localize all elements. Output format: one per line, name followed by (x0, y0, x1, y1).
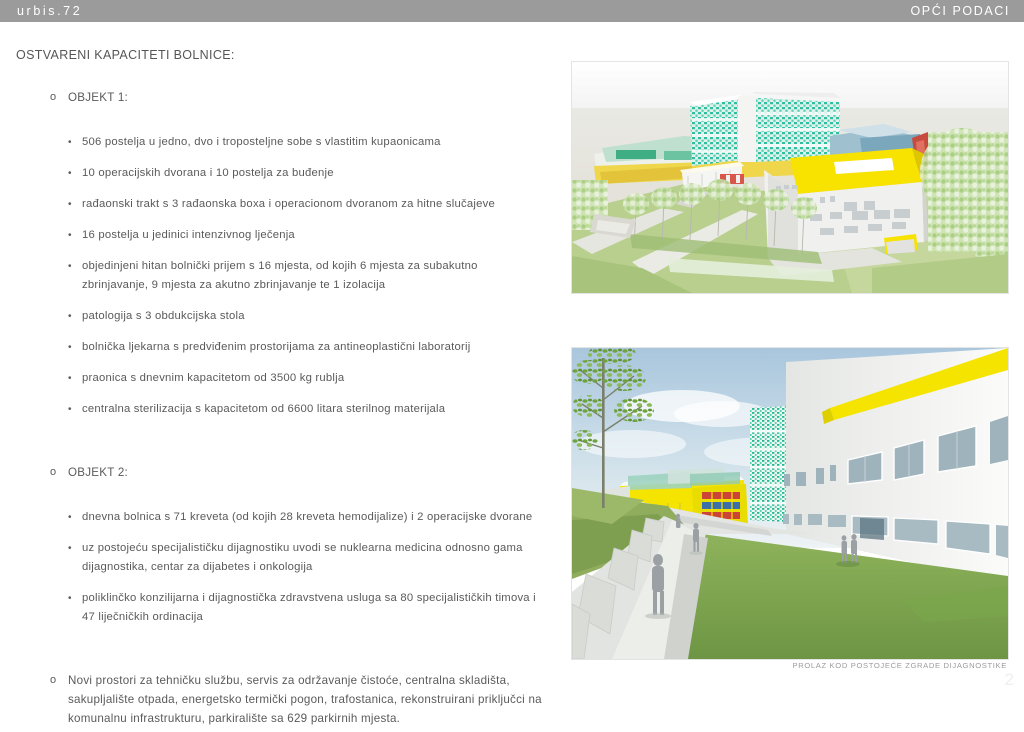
aerial-render-graphic (572, 62, 1008, 293)
bullet-hollow-icon: o (50, 463, 56, 482)
list-item-label: centralna sterilizacija s kapacitetom od… (82, 403, 445, 415)
page-number: 2 (1005, 670, 1014, 690)
image-caption: PROLAZ KOD POSTOJEĆE ZGRADE DIJAGNOSTIKE (571, 661, 1007, 670)
spacer (0, 111, 545, 133)
closing-paragraph-label: Novi prostori za tehničku službu, servis… (68, 674, 542, 725)
list-item: • objedinjeni hitan bolnički prijem s 16… (0, 257, 545, 295)
bullet-dot-icon: • (68, 589, 72, 608)
list-item: • poliklinčko konzilijarna i dijagnostič… (0, 589, 545, 627)
bullet-dot-icon: • (68, 195, 72, 214)
ground-level-hospital-render (571, 347, 1009, 660)
list-item: • praonica s dnevnim kapacitetom od 3500… (0, 369, 545, 388)
list-item: • centralna sterilizacija s kapacitetom … (0, 400, 545, 419)
bullet-dot-icon: • (68, 539, 72, 558)
aerial-hospital-render (571, 61, 1009, 294)
list-item-heading-objekt-2: o OBJEKT 2: (0, 463, 545, 482)
bullet-dot-icon: • (68, 226, 72, 245)
bullet-dot-icon: • (68, 164, 72, 183)
heading-label: OBJEKT 2: (68, 466, 128, 479)
closing-paragraph: o Novi prostori za tehničku službu, serv… (0, 671, 545, 728)
bullet-hollow-icon: o (50, 88, 56, 107)
list-item: • rađaonski trakt s 3 rađaonska boxa i o… (0, 195, 545, 214)
list-item-label: rađaonski trakt s 3 rađaonska boxa i ope… (82, 198, 495, 210)
list-item-label: patologija s 3 obdukcijska stola (82, 310, 245, 322)
page-title: OSTVARENI KAPACITETI BOLNICE: (16, 48, 235, 62)
bullet-dot-icon: • (68, 508, 72, 527)
bullet-dot-icon: • (68, 400, 72, 419)
bullet-dot-icon: • (68, 369, 72, 388)
list-item-label: poliklinčko konzilijarna i dijagnostička… (82, 592, 536, 623)
bullet-dot-icon: • (68, 257, 72, 276)
section-title: OPĆI PODACI (910, 4, 1010, 18)
list-item: • dnevna bolnica s 71 kreveta (od kojih … (0, 508, 545, 527)
bullet-dot-icon: • (68, 338, 72, 357)
brand-label: urbis.72 (17, 4, 82, 18)
list-item-label: uz postojeću specijalističku dijagnostik… (82, 542, 523, 573)
list-item-heading-objekt-1: o OBJEKT 1: (0, 88, 545, 107)
list-item: • 16 postelja u jedinici intenzivnog lje… (0, 226, 545, 245)
list-item-label: praonica s dnevnim kapacitetom od 3500 k… (82, 372, 344, 384)
heading-label: OBJEKT 1: (68, 91, 128, 104)
bullet-hollow-icon: o (50, 671, 56, 690)
list-item: • uz postojeću specijalističku dijagnost… (0, 539, 545, 577)
spacer (0, 431, 545, 463)
list-item-label: bolnička ljekarna s predviđenim prostori… (82, 341, 470, 353)
list-item-label: 10 operacijskih dvorana i 10 postelja za… (82, 167, 334, 179)
list-item: • 506 postelja u jedno, dvo i tropostelj… (0, 133, 545, 152)
list-item-label: 506 postelja u jedno, dvo i troposteljne… (82, 136, 441, 148)
list-item-label: objedinjeni hitan bolnički prijem s 16 m… (82, 260, 478, 291)
list-item-label: dnevna bolnica s 71 kreveta (od kojih 28… (82, 511, 532, 523)
bullet-dot-icon: • (68, 307, 72, 326)
spacer (0, 486, 545, 508)
list-item: • 10 operacijskih dvorana i 10 postelja … (0, 164, 545, 183)
header-bar: urbis.72 OPĆI PODACI (0, 0, 1024, 22)
list-item-label: 16 postelja u jedinici intenzivnog lječe… (82, 229, 295, 241)
spacer (0, 639, 545, 671)
list-item: • patologija s 3 obdukcijska stola (0, 307, 545, 326)
bullet-dot-icon: • (68, 133, 72, 152)
ground-render-graphic (572, 348, 1008, 659)
capacity-list: o OBJEKT 1: • 506 postelja u jedno, dvo … (0, 88, 545, 732)
list-item: • bolnička ljekarna s predviđenim prosto… (0, 338, 545, 357)
